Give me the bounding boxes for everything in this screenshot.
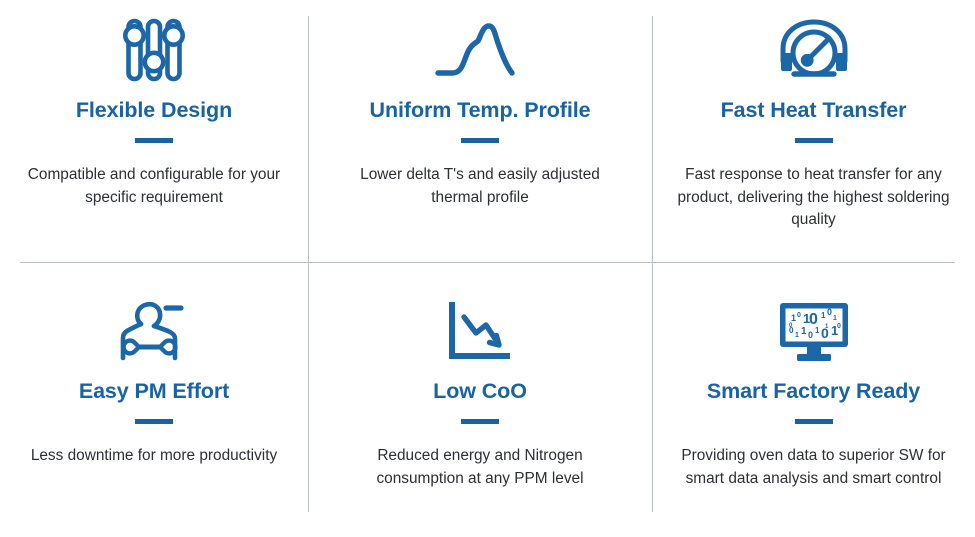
title-accent-bar bbox=[461, 138, 499, 143]
gauge-speedometer-icon bbox=[774, 14, 854, 86]
title-accent-bar bbox=[461, 419, 499, 424]
feature-description: Fast response to heat transfer for any p… bbox=[671, 164, 956, 232]
feature-description: Less downtime for more productivity bbox=[31, 445, 277, 468]
feature-card-fast-heat-transfer[interactable]: Fast Heat Transfer Fast response to heat… bbox=[652, 0, 975, 262]
technician-wrench-icon bbox=[115, 297, 193, 367]
feature-card-uniform-temp-profile[interactable]: Uniform Temp. Profile Lower delta T's an… bbox=[308, 0, 652, 262]
feature-title: Smart Factory Ready bbox=[707, 379, 920, 404]
feature-description: Providing oven data to superior SW for s… bbox=[671, 445, 956, 491]
feature-title: Fast Heat Transfer bbox=[721, 98, 907, 123]
feature-title: Low CoO bbox=[433, 379, 527, 404]
svg-text:1: 1 bbox=[821, 311, 826, 320]
feature-card-low-coo[interactable]: Low CoO Reduced energy and Nitrogen cons… bbox=[308, 263, 652, 537]
feature-row-bottom: Easy PM Effort Less downtime for more pr… bbox=[0, 263, 975, 537]
svg-text:1: 1 bbox=[801, 326, 807, 337]
svg-text:0: 0 bbox=[837, 323, 841, 330]
feature-card-smart-factory-ready[interactable]: 1 0 1 0 1 0 1 0 1 1 0 1 0 1 0 bbox=[652, 263, 975, 537]
feature-description: Reduced energy and Nitrogen consumption … bbox=[340, 445, 620, 491]
feature-card-flexible-design[interactable]: Flexible Design Compatible and configura… bbox=[0, 0, 308, 262]
monitor-binary-data-icon: 1 0 1 0 1 0 1 0 1 1 0 1 0 1 0 bbox=[776, 297, 852, 367]
feature-title: Easy PM Effort bbox=[79, 379, 229, 404]
feature-title: Uniform Temp. Profile bbox=[370, 98, 591, 123]
svg-text:1: 1 bbox=[833, 315, 837, 322]
declining-chart-icon bbox=[445, 297, 515, 367]
title-accent-bar bbox=[795, 419, 833, 424]
svg-text:0: 0 bbox=[827, 307, 832, 317]
sliders-icon bbox=[118, 14, 190, 86]
svg-text:1: 1 bbox=[795, 332, 799, 339]
feature-description: Compatible and configurable for your spe… bbox=[18, 164, 290, 210]
svg-text:1: 1 bbox=[815, 326, 820, 335]
feature-description: Lower delta T's and easily adjusted ther… bbox=[340, 164, 620, 210]
feature-card-easy-pm-effort[interactable]: Easy PM Effort Less downtime for more pr… bbox=[0, 263, 308, 537]
title-accent-bar bbox=[795, 138, 833, 143]
feature-row-top: Flexible Design Compatible and configura… bbox=[0, 0, 975, 262]
svg-text:0: 0 bbox=[808, 330, 813, 340]
svg-text:0: 0 bbox=[797, 312, 801, 319]
svg-text:1: 1 bbox=[791, 313, 796, 323]
thermal-profile-curve-icon bbox=[432, 14, 528, 86]
feature-title: Flexible Design bbox=[76, 98, 232, 123]
title-accent-bar bbox=[135, 419, 173, 424]
feature-grid: Flexible Design Compatible and configura… bbox=[0, 0, 975, 537]
title-accent-bar bbox=[135, 138, 173, 143]
